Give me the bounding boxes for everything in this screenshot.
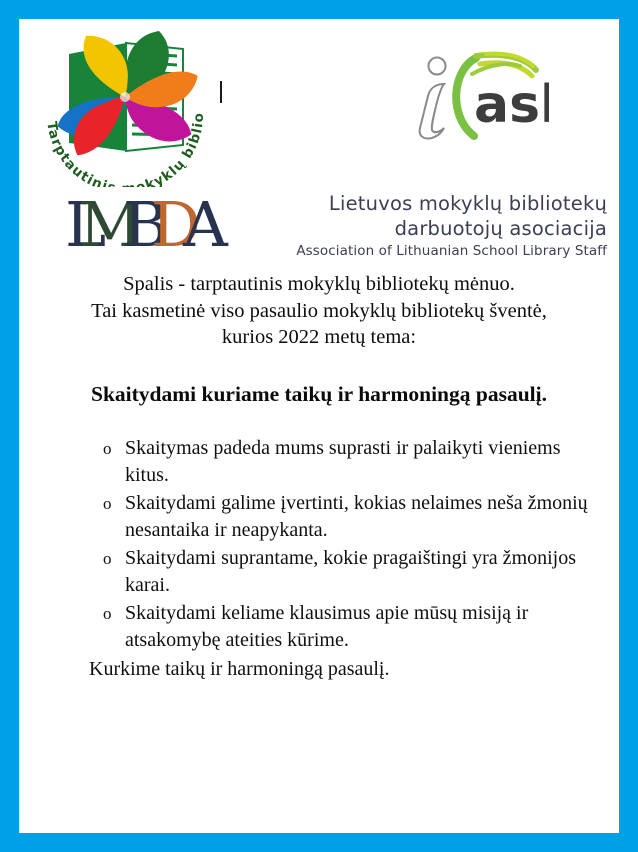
intro-line-1: Spalis - tarptautinis mokyklų bibliotekų… [33, 271, 605, 298]
intro-line-3: kurios 2022 metų tema: [33, 324, 605, 351]
poster-content-area: Tarptautinis mokyklų bibliotekų mėnuo [19, 19, 619, 833]
bullet-marker-icon: o [103, 435, 112, 463]
svg-text:A: A [182, 193, 229, 255]
association-line-1: Lietuvos mokyklų bibliotekų [251, 191, 607, 216]
intro-paragraph: Spalis - tarptautinis mokyklų bibliotekų… [33, 271, 605, 351]
logo-header-row: Tarptautinis mokyklų bibliotekų mėnuo [19, 19, 619, 189]
list-item: o Skaitydami keliame klausimus apie mūsų… [103, 600, 595, 655]
bullet-marker-icon: o [103, 545, 112, 573]
list-item-text: Skaitydami suprantame, kokie pragaišting… [125, 547, 576, 597]
list-item: o Skaitydami galime įvertinti, kokias ne… [103, 490, 595, 545]
association-line-2: darbuotojų asociacija [251, 216, 607, 241]
iasl-logo: asl [414, 44, 549, 149]
text-cursor-caret [220, 81, 222, 103]
closing-line: Kurkime taikų ir harmoningą pasaulį. [33, 655, 605, 683]
list-item: o Skaitydami suprantame, kokie pragaišti… [103, 545, 595, 600]
association-line-3: Association of Lithuanian School Library… [251, 241, 607, 261]
spacer-above-theme [33, 351, 605, 379]
lmbda-logo: L M B D A [65, 193, 240, 255]
list-item-text: Skaitymas padeda mums suprasti ir palaik… [125, 437, 560, 487]
lmbda-header-row: L M B D A Lietuvos mokyklų bibliotekų da… [19, 191, 619, 269]
bullet-marker-icon: o [103, 490, 112, 518]
theme-heading: Skaitydami kuriame taikų ir harmoningą p… [33, 379, 605, 409]
bullet-marker-icon: o [103, 600, 112, 628]
statements-list: o Skaitymas padeda mums suprasti ir pala… [33, 435, 605, 655]
list-item: o Skaitymas padeda mums suprasti ir pala… [103, 435, 595, 490]
international-school-library-month-logo: Tarptautinis mokyklų bibliotekų mėnuo [25, 19, 225, 187]
association-name-block: Lietuvos mokyklų bibliotekų darbuotojų a… [251, 191, 607, 261]
list-item-text: Skaitydami keliame klausimus apie mūsų m… [125, 602, 528, 652]
poster-page: Tarptautinis mokyklų bibliotekų mėnuo [0, 0, 638, 852]
iasl-wordmark: asl [474, 75, 549, 135]
intro-line-2: Tai kasmetinė viso pasaulio mokyklų bibl… [33, 298, 605, 325]
poster-body: Spalis - tarptautinis mokyklų bibliotekų… [19, 271, 619, 683]
list-item-text: Skaitydami galime įvertinti, kokias nela… [125, 492, 588, 542]
spacer-below-theme [33, 409, 605, 435]
